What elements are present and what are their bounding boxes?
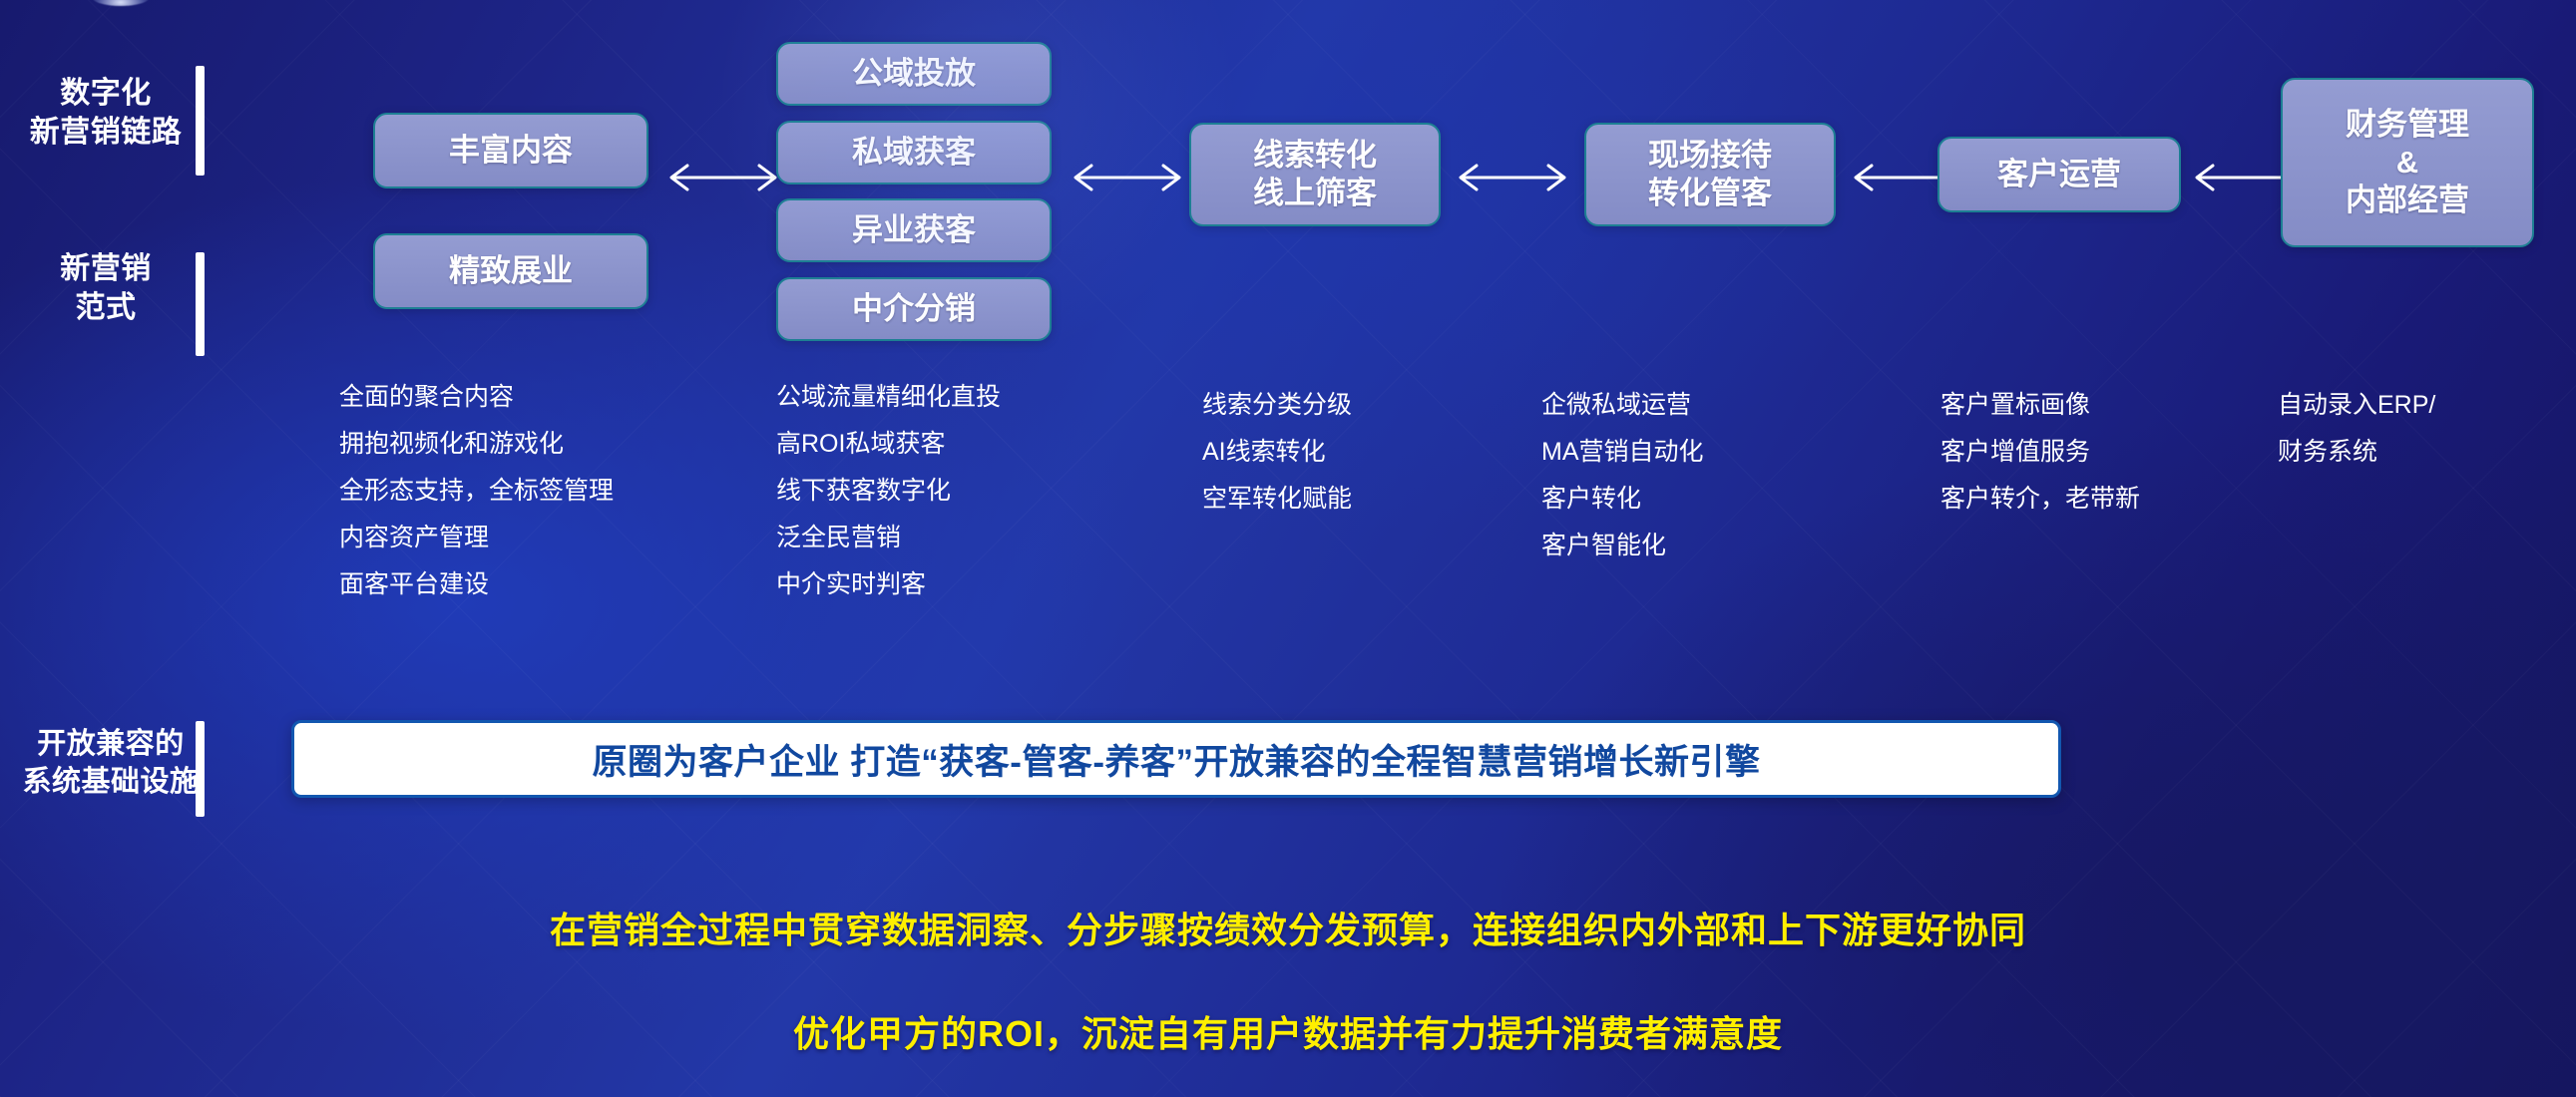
bullet-column-lead-conversion: 线索分类分级 AI线索转化 空军转化赋能 — [1202, 393, 1352, 534]
footer-line-1: 在营销全过程中贯穿数据洞察、分步骤按绩效分发预算，连接组织内外部和上下游更好协同 — [0, 902, 2576, 953]
row-divider-bar-infrastructure — [196, 721, 205, 817]
bullet-item: 泛全民营销 — [776, 526, 1001, 550]
engine-banner: 原圈为客户企业 打造“获客-管客-养客”开放兼容的全程智慧营销增长新引擎 — [291, 720, 2061, 798]
stage-box-rich-content[interactable]: 丰富内容 — [373, 113, 648, 188]
row-label-open-infrastructure: 开放兼容的 系统基础设施 — [22, 726, 200, 801]
footer-line-2: 优化甲方的ROI，沉淀自有用户数据并有力提升消费者满意度 — [0, 1005, 2576, 1057]
stage-box-public-domain-placement[interactable]: 公域投放 — [776, 42, 1052, 106]
bullet-item: 线索分类分级 — [1202, 393, 1352, 418]
row-divider-bar-chain — [196, 66, 205, 176]
bullet-item: 全面的聚合内容 — [339, 385, 614, 410]
connector-arrow-1 — [663, 161, 783, 194]
bullet-item: 中介实时判客 — [776, 572, 1001, 597]
bullet-column-acquisition: 公域流量精细化直投 高ROI私域获客 线下获客数字化 泛全民营销 中介实时判客 — [776, 385, 1001, 619]
stage-box-customer-operation[interactable]: 客户运营 — [1937, 137, 2181, 212]
connector-arrow-3 — [1453, 161, 1572, 194]
bullet-item: 拥抱视频化和游戏化 — [339, 432, 614, 457]
connector-arrow-2 — [1068, 161, 1187, 194]
bullet-item: MA营销自动化 — [1541, 440, 1704, 465]
stage-box-private-domain-acquisition[interactable]: 私域获客 — [776, 121, 1052, 184]
bullet-column-finance: 自动录入ERP/ 财务系统 — [2278, 393, 2435, 487]
double-headed-arrow-icon — [1453, 161, 1572, 194]
bullet-item: 内容资产管理 — [339, 526, 614, 550]
row-label-digital-chain: 数字化 新营销链路 — [22, 74, 190, 152]
row-label-new-marketing-paradigm: 新营销 范式 — [22, 249, 190, 327]
bullet-item: 企微私域运营 — [1541, 393, 1704, 418]
bullet-item: 客户转化 — [1541, 487, 1704, 512]
bullet-column-customer-operation: 客户置标画像 客户增值服务 客户转介，老带新 — [1940, 393, 2140, 534]
bullet-item: 面客平台建设 — [339, 572, 614, 597]
bullet-item: AI线索转化 — [1202, 440, 1352, 465]
bullet-item: 客户转介，老带新 — [1940, 487, 2140, 512]
bullet-item: 空军转化赋能 — [1202, 487, 1352, 512]
double-headed-arrow-icon — [663, 161, 783, 194]
stage-box-onsite-reception[interactable]: 现场接待 转化管客 — [1584, 123, 1836, 226]
bullet-item: 线下获客数字化 — [776, 479, 1001, 504]
row-divider-bar-paradigm — [196, 252, 205, 356]
content-layer: 数字化 新营销链路 新营销 范式 开放兼容的 系统基础设施 丰富内容 精致展业 … — [0, 0, 2576, 1097]
bullet-item: 客户置标画像 — [1940, 393, 2140, 418]
bullet-item: 客户增值服务 — [1940, 440, 2140, 465]
bullet-item: 高ROI私域获客 — [776, 432, 1001, 457]
stage-box-lead-conversion[interactable]: 线索转化 线上筛客 — [1189, 123, 1441, 226]
bullet-item: 自动录入ERP/ — [2278, 393, 2435, 418]
stage-box-refined-business[interactable]: 精致展业 — [373, 233, 648, 309]
stage-box-cross-industry-acquisition[interactable]: 异业获客 — [776, 198, 1052, 262]
stage-box-agent-distribution[interactable]: 中介分销 — [776, 277, 1052, 341]
slide-canvas: 数字化 新营销链路 新营销 范式 开放兼容的 系统基础设施 丰富内容 精致展业 … — [0, 0, 2576, 1097]
bullet-column-content: 全面的聚合内容 拥抱视频化和游戏化 全形态支持，全标签管理 内容资产管理 面客平… — [339, 385, 614, 619]
bullet-item: 公域流量精细化直投 — [776, 385, 1001, 410]
bullet-item: 财务系统 — [2278, 440, 2435, 465]
double-headed-arrow-icon — [1068, 161, 1187, 194]
bullet-item: 客户智能化 — [1541, 534, 1704, 558]
bullet-item: 全形态支持，全标签管理 — [339, 479, 614, 504]
bullet-column-onsite-reception: 企微私域运营 MA营销自动化 客户转化 客户智能化 — [1541, 393, 1704, 580]
stage-box-finance-internal-ops[interactable]: 财务管理 & 内部经营 — [2281, 78, 2534, 247]
